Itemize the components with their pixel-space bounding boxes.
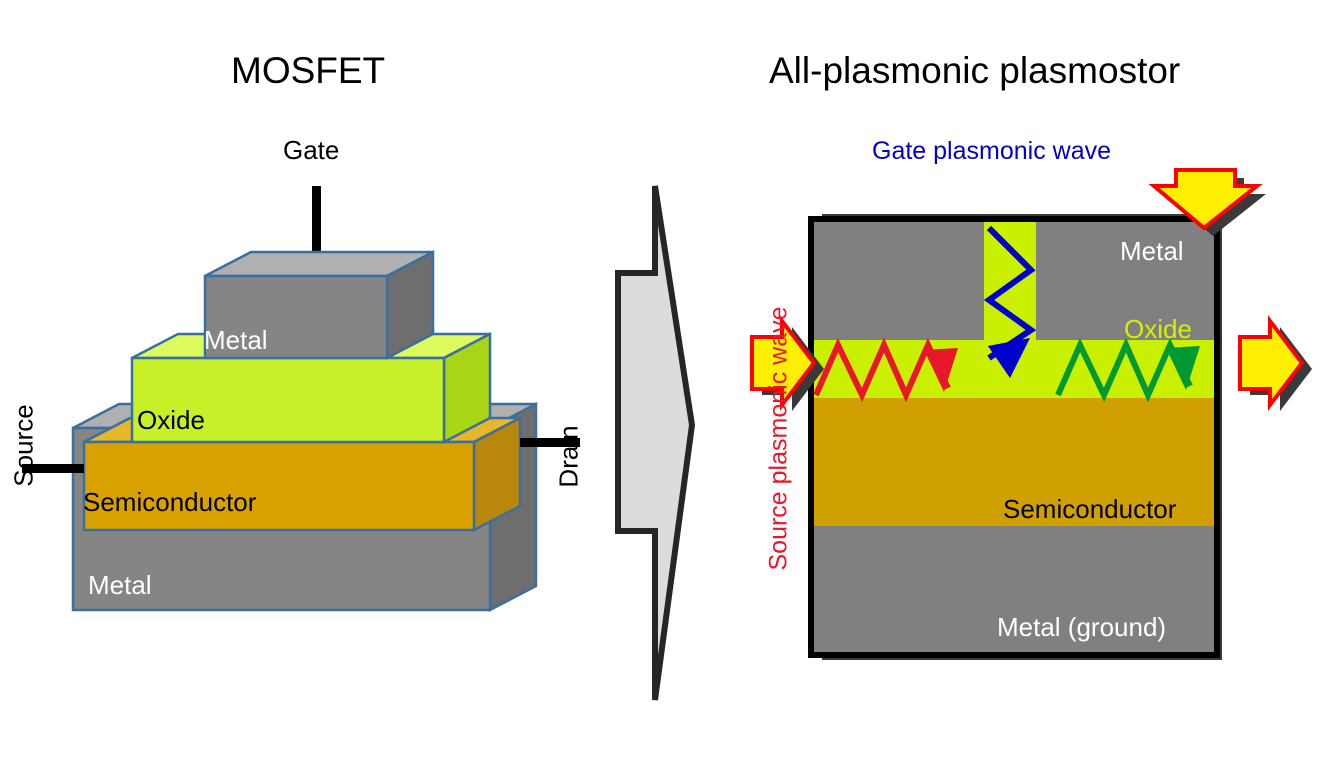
plasmostor-semiconductor-label: Semiconductor [1003, 494, 1176, 525]
plasmostor-ground-metal-label: Metal (ground) [997, 612, 1166, 643]
gate-plasmonic-wave-label: Gate plasmonic wave [872, 137, 1111, 166]
drain-output-arrow [1240, 321, 1312, 411]
source-plasmonic-wave-label: Source plasmonic wave [765, 306, 794, 570]
plasmostor-metal-label: Metal [1120, 236, 1184, 267]
plasmostor-drawing [0, 0, 1326, 763]
figure-canvas: MOSFET All-plasmonic plasmostor Gate Sou… [0, 0, 1326, 763]
plasmostor-oxide-label: Oxide [1124, 314, 1192, 345]
